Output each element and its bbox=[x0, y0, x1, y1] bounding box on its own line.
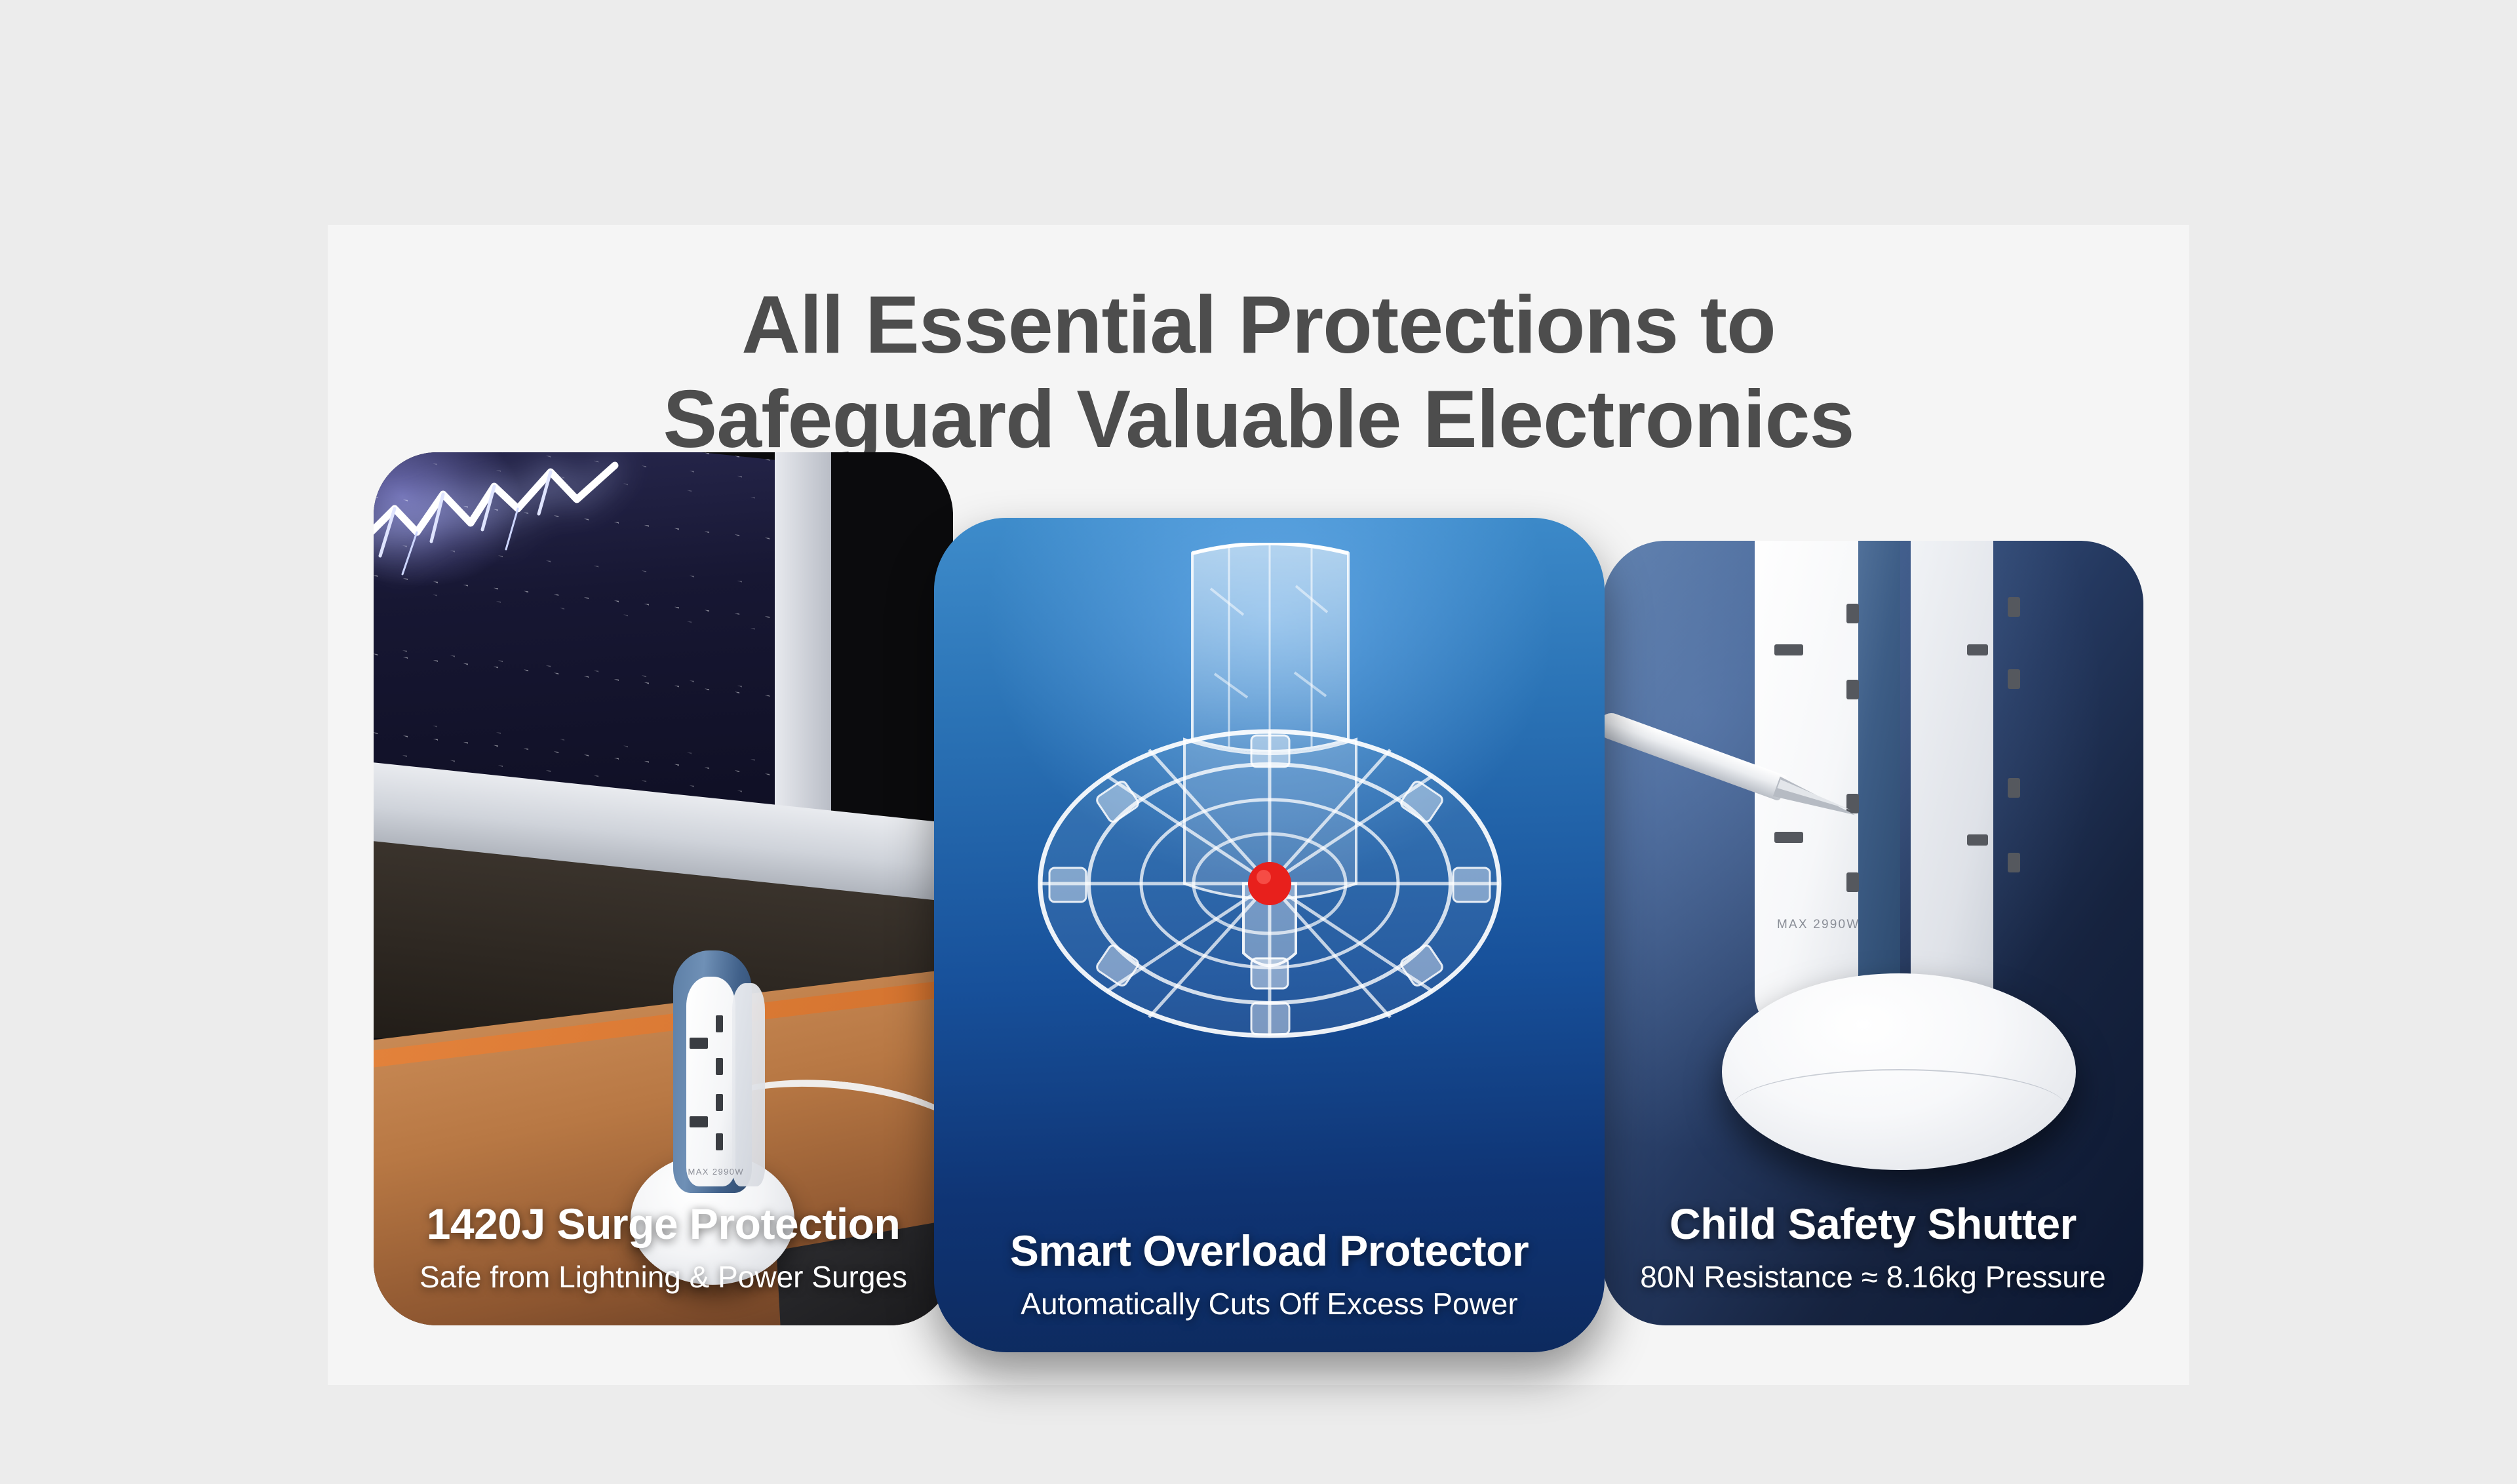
socket-earth-slot bbox=[1774, 644, 1803, 655]
socket-live-slot bbox=[2008, 853, 2020, 872]
socket-earth-slot bbox=[1967, 834, 1988, 846]
socket-earth-slot bbox=[690, 1038, 708, 1049]
tower-socket-face-front bbox=[686, 977, 735, 1186]
socket-live-slot bbox=[716, 1133, 723, 1150]
socket-earth-slot bbox=[1774, 832, 1803, 843]
surge-caption: 1420J Surge Protection Safe from Lightni… bbox=[374, 1200, 953, 1325]
feature-card-child-safety-shutter[interactable]: MAX 2990W Child Safety Shutter 80N Resis… bbox=[1603, 541, 2143, 1325]
socket-live-slot bbox=[716, 1015, 723, 1032]
socket-live-slot bbox=[2008, 669, 2020, 689]
product-max-wattage-label: MAX 2990W bbox=[688, 1167, 745, 1177]
socket-live-slot bbox=[2008, 597, 2020, 617]
shutter-caption: Child Safety Shutter 80N Resistance ≈ 8.… bbox=[1603, 1200, 2143, 1325]
socket-live-slot bbox=[1846, 872, 1859, 892]
socket-live-slot bbox=[716, 1094, 723, 1111]
socket-face-side bbox=[1911, 541, 1993, 1027]
overload-caption: Smart Overload Protector Automatically C… bbox=[934, 1227, 1605, 1352]
lightning-bolt-icon bbox=[374, 452, 629, 662]
feature-card-overload-protector[interactable]: Smart Overload Protector Automatically C… bbox=[934, 518, 1605, 1352]
product-max-wattage-label: MAX 2990W bbox=[1777, 918, 1860, 932]
surge-scene: MAX 2990W bbox=[374, 452, 953, 1325]
socket-earth-slot bbox=[1967, 644, 1988, 655]
card-subtitle-surge: Safe from Lightning & Power Surges bbox=[374, 1259, 953, 1295]
transparent-breaker-mechanism bbox=[1021, 543, 1519, 1133]
socket-live-slot bbox=[716, 1058, 723, 1075]
socket-live-slot bbox=[1846, 604, 1859, 623]
content-panel: All Essential Protections to Safeguard V… bbox=[328, 225, 2189, 1385]
reset-indicator bbox=[1248, 862, 1291, 905]
card-subtitle-overload: Automatically Cuts Off Excess Power bbox=[934, 1286, 1605, 1322]
promo-banner: All Essential Protections to Safeguard V… bbox=[0, 0, 2517, 1484]
feature-card-surge-protection[interactable]: MAX 2990W 1420J Surge Protection Safe fr… bbox=[374, 452, 953, 1325]
card-title-surge: 1420J Surge Protection bbox=[374, 1200, 953, 1249]
card-subtitle-shutter: 80N Resistance ≈ 8.16kg Pressure bbox=[1603, 1259, 2143, 1295]
tower-base-seam bbox=[1731, 1069, 2067, 1148]
tower-socket-face-side bbox=[732, 983, 765, 1186]
socket-live-slot bbox=[2008, 778, 2020, 798]
card-title-overload: Smart Overload Protector bbox=[934, 1227, 1605, 1276]
socket-live-slot bbox=[1846, 680, 1859, 699]
card-title-shutter: Child Safety Shutter bbox=[1603, 1200, 2143, 1249]
feature-card-list: MAX 2990W 1420J Surge Protection Safe fr… bbox=[328, 225, 2189, 1385]
socket-earth-slot bbox=[690, 1116, 708, 1127]
